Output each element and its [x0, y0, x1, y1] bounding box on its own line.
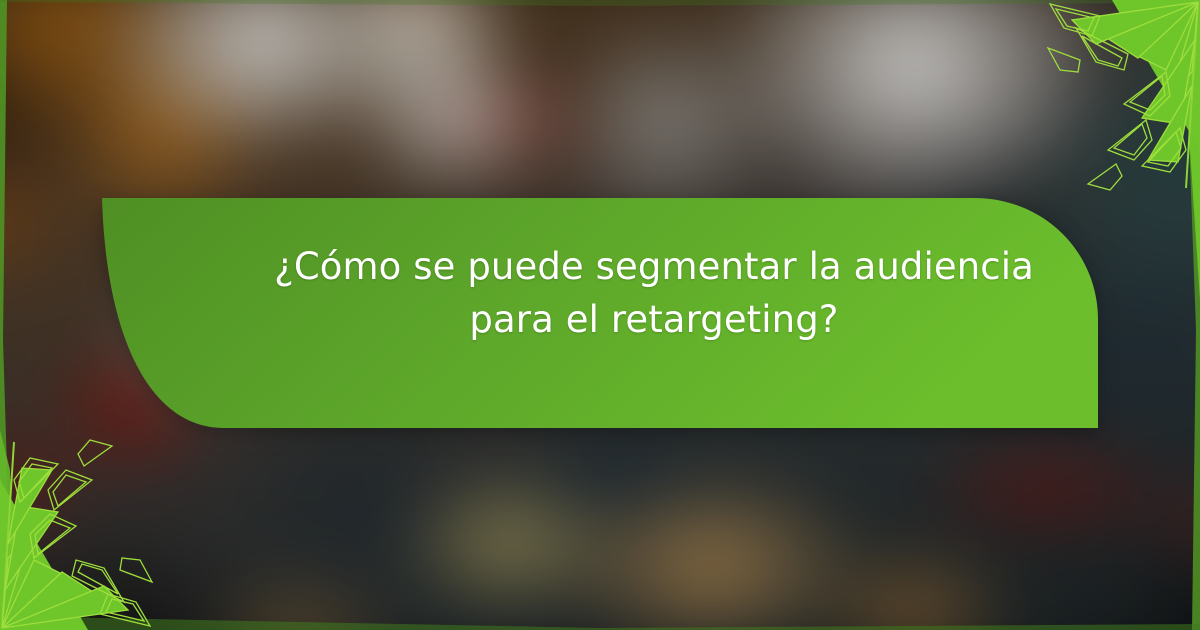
title-banner: ¿Cómo se puede segmentar la audiencia pa… [84, 188, 1114, 444]
share-card-canvas: ¿Cómo se puede segmentar la audiencia pa… [0, 0, 1200, 630]
banner-title-text: ¿Cómo se puede segmentar la audiencia pa… [244, 240, 1064, 346]
